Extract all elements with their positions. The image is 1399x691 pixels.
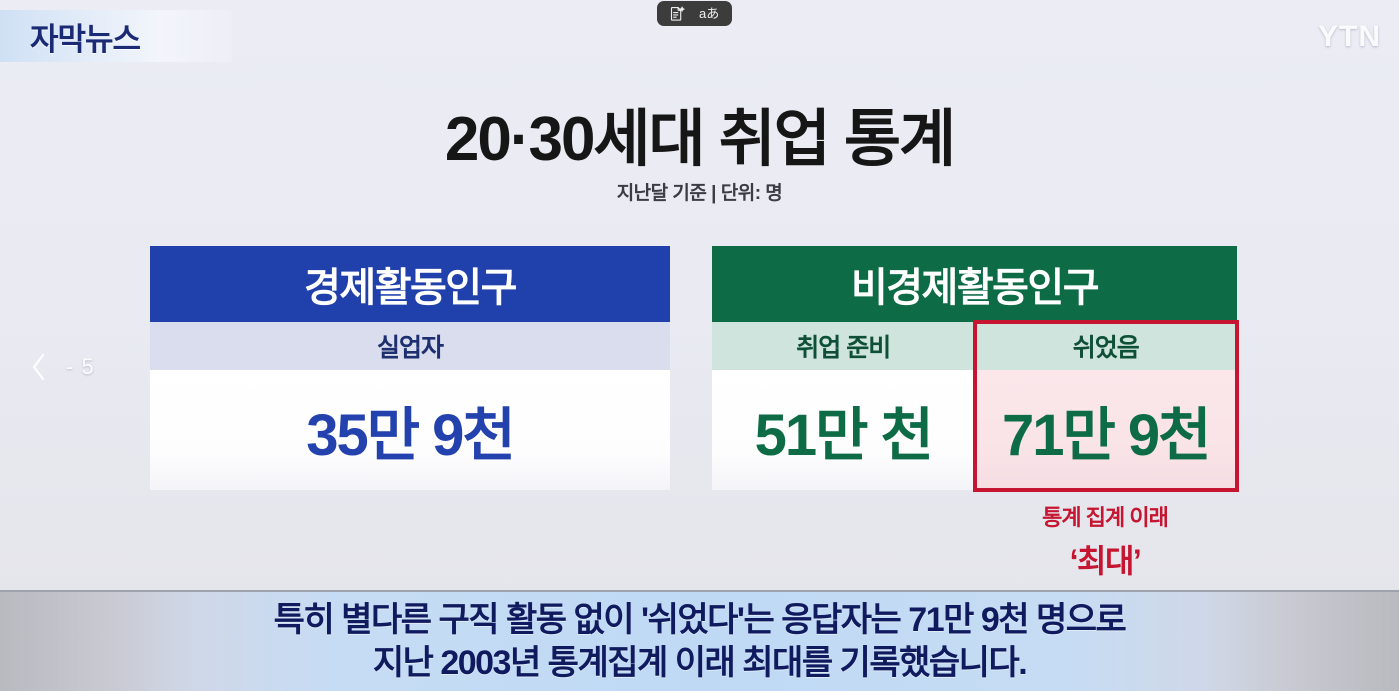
document-sparkle-icon[interactable] [670,6,685,22]
subtitle-line-2: 지난 2003년 통계집계 이래 최대를 기록했습니다. [373,643,1026,683]
translate-glyph: aあ [699,7,719,20]
graphic-subtitle: 지난달 기준 | 단위: 명 [0,178,1399,205]
column-value: 71만 9천 [975,370,1238,490]
browser-tool-pill[interactable]: aあ [657,1,732,26]
statistics-panels: 경제활동인구 실업자 35만 9천 비경제활동인구 취업 준비 51만 천 쉬었… [0,246,1399,498]
column-label: 쉬었음 [975,322,1238,370]
video-frame: 자막뉴스 aあ YTN - 5 20·30세대 취업 통계 지난달 기준 | 단… [0,0,1399,691]
seek-back-overlay: - 5 [30,352,95,382]
record-high-callout: 통계 집계 이래 ‘최대’ [965,500,1245,582]
subtitle-caption-bar: 특히 별다른 구직 활동 없이 '쉬었다'는 응답자는 71만 9천 명으로 지… [0,590,1399,691]
column-rested: 쉬었음 71만 9천 [975,322,1238,490]
column-label: 취업 준비 [712,322,975,370]
program-banner-label: 자막뉴스 [30,14,140,59]
panel-columns: 실업자 35만 9천 [150,322,670,490]
panel-economically-active: 경제활동인구 실업자 35만 9천 [150,246,670,490]
program-banner: 자막뉴스 [0,10,232,62]
panel-economically-inactive: 비경제활동인구 취업 준비 51만 천 쉬었음 71만 9천 [712,246,1237,490]
seek-back-label: - 5 [66,354,95,380]
column-value: 35만 9천 [150,370,670,490]
column-value: 51만 천 [712,370,975,490]
panel-columns: 취업 준비 51만 천 쉬었음 71만 9천 [712,322,1237,490]
page-title: 20·30세대 취업 통계 [0,88,1399,178]
callout-line-2: ‘최대’ [965,536,1245,582]
column-job-preparation: 취업 준비 51만 천 [712,322,975,490]
chevron-left-icon [30,352,48,382]
broadcaster-logo: YTN [1318,20,1381,54]
translate-icon[interactable]: aあ [699,7,719,20]
subtitle-line-1: 특히 별다른 구직 활동 없이 '쉬었다'는 응답자는 71만 9천 명으로 [274,600,1126,640]
panel-header: 경제활동인구 [150,246,670,322]
column-label: 실업자 [150,322,670,370]
callout-line-1: 통계 집계 이래 [965,500,1245,532]
panel-header: 비경제활동인구 [712,246,1237,322]
column-unemployed: 실업자 35만 9천 [150,322,670,490]
